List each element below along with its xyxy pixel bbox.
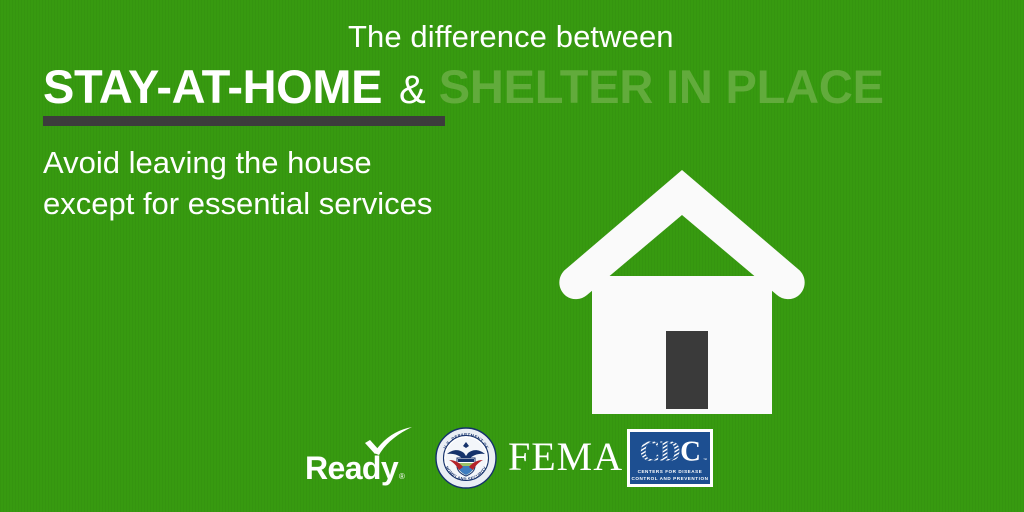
fema-wordmark: FEMA <box>497 437 623 480</box>
cdc-wordmark-icon: CDC CDC <box>630 433 710 469</box>
subtitle-line-2: except for essential services <box>43 183 432 224</box>
fema-logo[interactable]: U.S. DEPARTMENT OF HOMELAND SECURITY <box>435 426 623 490</box>
eyebrow-text: The difference between <box>348 20 674 55</box>
cdc-tagline-line-1: CENTERS FOR DISEASE <box>630 468 710 475</box>
headline: STAY-AT-HOME & SHELTER IN PLACE <box>43 63 884 115</box>
subtitle-line-1: Avoid leaving the house <box>43 142 432 183</box>
logo-strip: Ready ® U.S. DEPARTMENT OF <box>300 424 730 494</box>
cdc-tagline-line-2: CONTROL AND PREVENTION <box>630 475 710 482</box>
cdc-trademark: ™ <box>703 458 707 462</box>
subtitle-text: Avoid leaving the house except for essen… <box>43 142 432 224</box>
cdc-tagline: CENTERS FOR DISEASE CONTROL AND PREVENTI… <box>630 468 710 482</box>
ready-logo[interactable]: Ready ® <box>305 426 413 488</box>
house-icon <box>555 168 809 416</box>
headline-muted: SHELTER IN PLACE <box>439 63 884 110</box>
ready-wordmark: Ready <box>305 452 398 484</box>
cdc-logo-box: CDC CDC ™ CENTERS FOR DISEASE CONTROL AN… <box>630 432 710 484</box>
ready-trademark: ® <box>399 473 405 481</box>
cdc-logo[interactable]: CDC CDC ™ CENTERS FOR DISEASE CONTROL AN… <box>627 429 713 487</box>
headline-conjunction: & <box>382 70 439 110</box>
dhs-seal-icon: U.S. DEPARTMENT OF HOMELAND SECURITY <box>435 427 497 489</box>
poster-canvas: The difference between STAY-AT-HOME & SH… <box>0 0 1024 512</box>
headline-emphasized: STAY-AT-HOME <box>43 63 382 110</box>
headline-underline-bar <box>43 116 445 126</box>
